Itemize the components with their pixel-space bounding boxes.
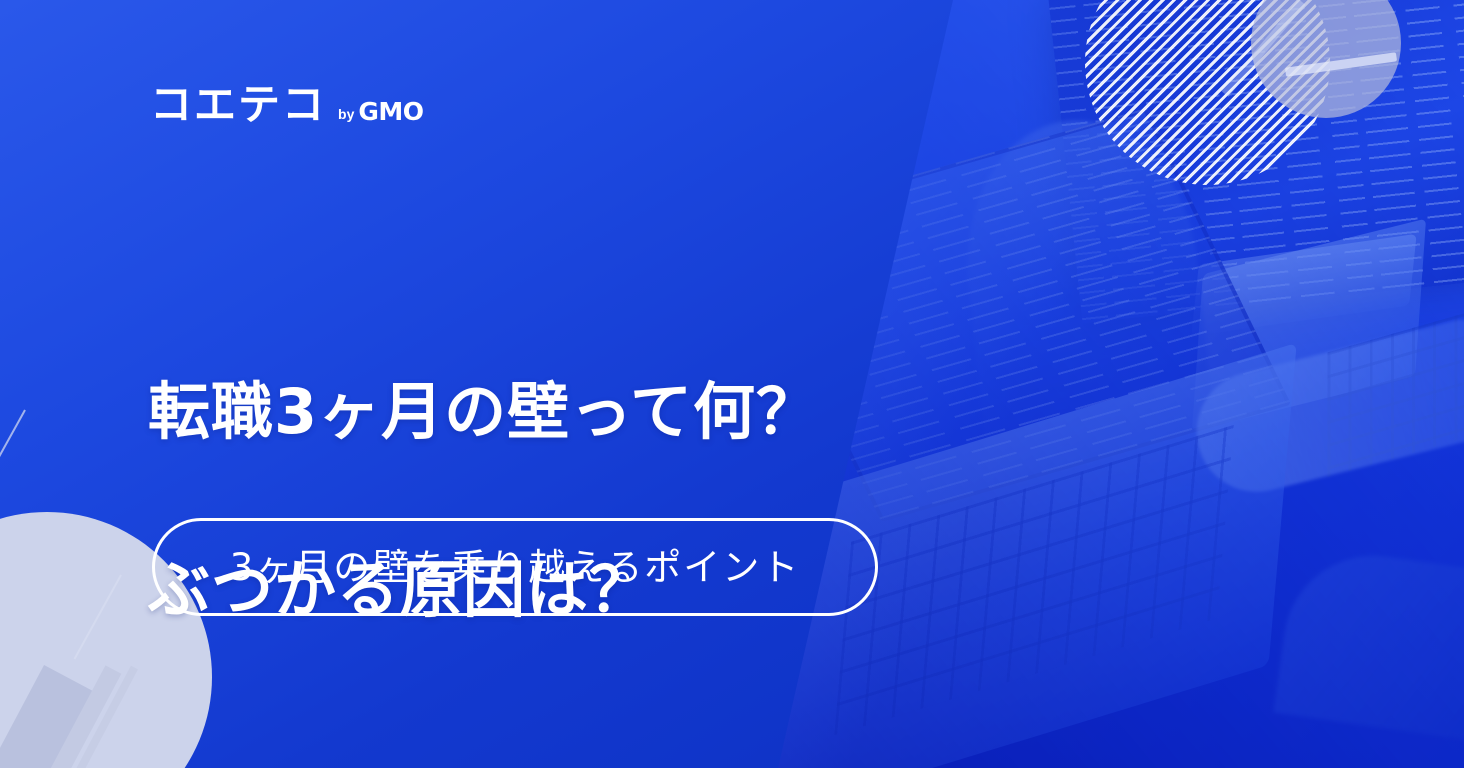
logo-by-text: by: [338, 107, 354, 121]
cta-button-label: 3ヶ月の壁を乗り越えるポイント: [230, 549, 800, 586]
cta-pill-button[interactable]: 3ヶ月の壁を乗り越えるポイント: [152, 518, 878, 616]
hero-banner: コエテコ by GMO 転職3ヶ月の壁って何？ ぶつかる原因は？ 3ヶ月の壁を乗…: [0, 0, 1464, 768]
logo-mark-text: コエテコ: [150, 84, 326, 126]
page-title: 転職3ヶ月の壁って何？ ぶつかる原因は？: [148, 278, 819, 724]
koeteco-logo[interactable]: コエテコ by GMO: [150, 84, 432, 126]
logo-brand-text: GMO: [358, 99, 423, 124]
headline-line-1: 転職3ヶ月の壁って何？: [148, 367, 819, 456]
banner-content: コエテコ by GMO 転職3ヶ月の壁って何？ ぶつかる原因は？ 3ヶ月の壁を乗…: [0, 0, 1464, 768]
